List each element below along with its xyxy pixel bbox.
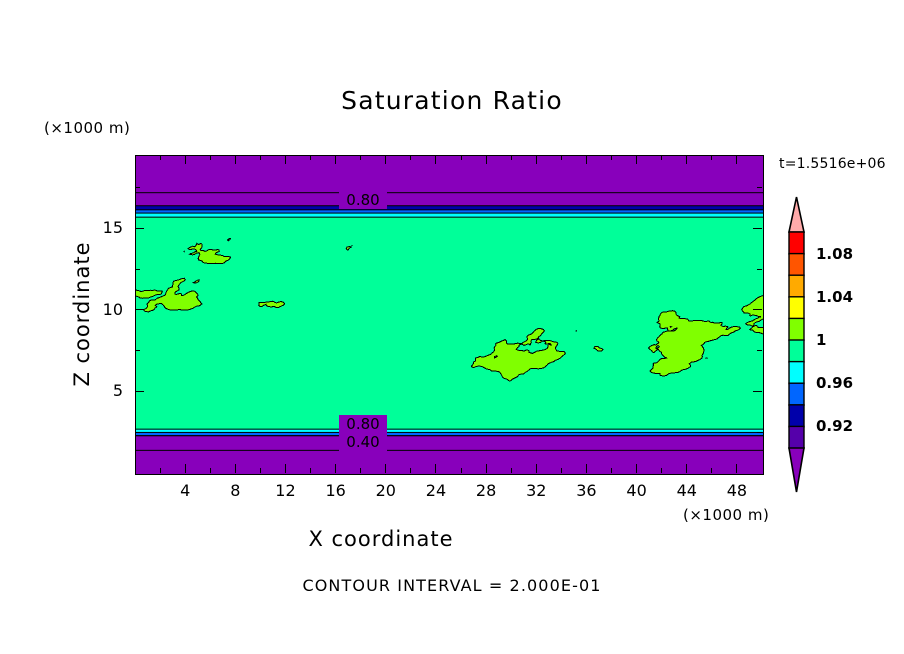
contour-label: 0.80	[339, 191, 387, 209]
x-tick-label: 4	[165, 481, 205, 500]
x-tick-label: 20	[366, 481, 406, 500]
x-tick-mark	[586, 464, 587, 473]
x-tick-mark-top	[686, 155, 687, 164]
x-minor-tick-top	[210, 155, 211, 160]
colorbar-cap-bottom	[789, 448, 804, 492]
x-tick-mark	[385, 464, 386, 473]
colorbar-tick-label: 1.04	[816, 288, 853, 306]
x-minor-tick-top	[561, 155, 562, 160]
x-tick-mark-top	[586, 155, 587, 164]
x-minor-tick	[410, 468, 411, 473]
x-tick-mark-top	[636, 155, 637, 164]
x-tick-mark	[435, 464, 436, 473]
x-tick-mark	[235, 464, 236, 473]
y-tick-label: 15	[83, 218, 123, 237]
x-tick-mark-top	[285, 155, 286, 164]
colorbar-tick-label: 0.96	[816, 374, 853, 392]
x-tick-label: 40	[617, 481, 657, 500]
x-minor-tick-top	[461, 155, 462, 160]
y-tick-mark-right	[753, 228, 762, 229]
contour-label: 0.80	[339, 415, 387, 433]
x-minor-tick	[711, 468, 712, 473]
x-tick-label: 32	[516, 481, 556, 500]
x-minor-tick-top	[661, 155, 662, 160]
page-title: Saturation Ratio	[0, 86, 904, 115]
x-minor-tick-top	[310, 155, 311, 160]
x-tick-mark	[736, 464, 737, 473]
x-tick-label: 8	[215, 481, 255, 500]
x-axis-units-label: (×1000 m)	[683, 506, 769, 524]
x-minor-tick-top	[260, 155, 261, 160]
x-tick-mark-top	[385, 155, 386, 164]
y-tick-mark	[135, 309, 144, 310]
x-tick-label: 36	[566, 481, 606, 500]
x-tick-label: 28	[466, 481, 506, 500]
x-tick-mark	[185, 464, 186, 473]
colorbar-tick-label: 1.08	[816, 245, 853, 263]
contour-plot-area	[136, 156, 763, 474]
y-tick-mark-right	[753, 391, 762, 392]
y-axis-units-label: (×1000 m)	[44, 119, 130, 137]
x-tick-label: 16	[316, 481, 356, 500]
x-minor-tick-top	[410, 155, 411, 160]
y-minor-tick-right	[757, 432, 762, 433]
x-minor-tick	[611, 468, 612, 473]
x-minor-tick	[360, 468, 361, 473]
x-minor-tick-top	[611, 155, 612, 160]
y-minor-tick-right	[757, 269, 762, 270]
y-minor-tick	[135, 269, 140, 270]
x-minor-tick	[561, 468, 562, 473]
y-tick-label: 10	[83, 300, 123, 319]
x-tick-label: 24	[416, 481, 456, 500]
x-minor-tick-top	[160, 155, 161, 160]
x-minor-tick	[310, 468, 311, 473]
x-minor-tick-top	[360, 155, 361, 160]
contour-label: 0.40	[339, 433, 387, 451]
x-minor-tick	[661, 468, 662, 473]
x-tick-mark-top	[185, 155, 186, 164]
x-minor-tick-top	[511, 155, 512, 160]
colorbar[interactable]	[778, 196, 814, 524]
y-minor-tick	[135, 187, 140, 188]
x-tick-mark	[335, 464, 336, 473]
x-tick-label: 12	[265, 481, 305, 500]
x-tick-mark-top	[435, 155, 436, 164]
x-tick-mark	[686, 464, 687, 473]
contour-plot-figure: Saturation Ratio (×1000 m) (×1000 m) t=1…	[0, 0, 904, 654]
y-minor-tick-right	[757, 350, 762, 351]
x-tick-mark	[486, 464, 487, 473]
y-tick-mark	[135, 391, 144, 392]
x-minor-tick	[511, 468, 512, 473]
x-tick-mark-top	[736, 155, 737, 164]
x-minor-tick	[260, 468, 261, 473]
x-minor-tick	[461, 468, 462, 473]
y-minor-tick-right	[757, 187, 762, 188]
contour-interval-caption: CONTOUR INTERVAL = 2.000E-01	[0, 576, 904, 595]
y-minor-tick	[135, 432, 140, 433]
x-tick-label: 44	[667, 481, 707, 500]
x-axis-title: X coordinate	[0, 527, 762, 551]
x-tick-mark-top	[335, 155, 336, 164]
x-tick-mark	[536, 464, 537, 473]
x-tick-mark-top	[486, 155, 487, 164]
colorbar-tick-label: 1	[816, 331, 826, 349]
y-tick-mark	[135, 228, 144, 229]
x-tick-mark-top	[536, 155, 537, 164]
x-tick-mark	[636, 464, 637, 473]
x-minor-tick-top	[711, 155, 712, 160]
colorbar-tick-label: 0.92	[816, 417, 853, 435]
colorbar-swatches[interactable]	[778, 196, 814, 520]
x-tick-label: 48	[717, 481, 757, 500]
time-stamp-label: t=1.5516e+06	[779, 156, 886, 172]
y-tick-mark-right	[753, 309, 762, 310]
y-minor-tick	[135, 350, 140, 351]
x-tick-mark	[285, 464, 286, 473]
x-minor-tick	[210, 468, 211, 473]
x-minor-tick	[160, 468, 161, 473]
colorbar-cap-top	[789, 197, 804, 232]
x-tick-mark-top	[235, 155, 236, 164]
saturation-field	[136, 156, 763, 474]
y-tick-label: 5	[83, 381, 123, 400]
